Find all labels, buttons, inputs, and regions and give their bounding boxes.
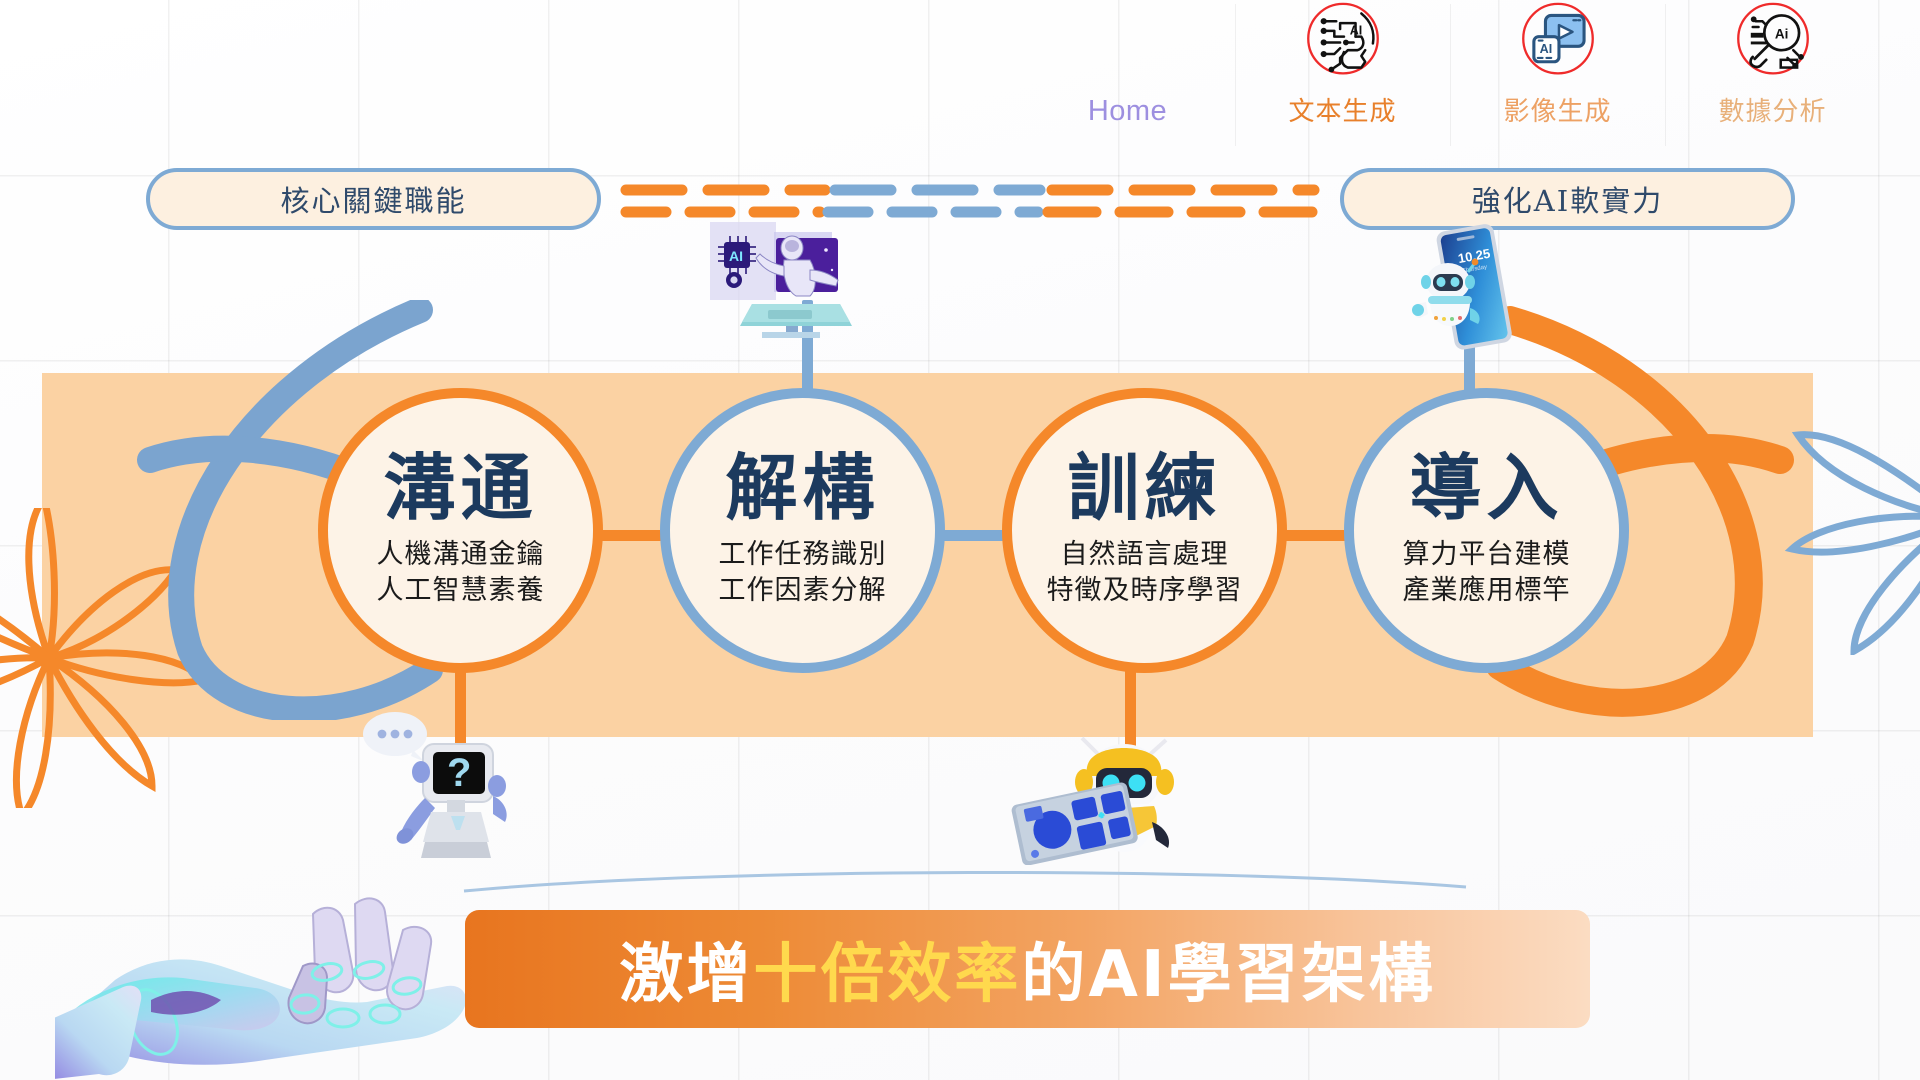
arc-divider	[460, 865, 1470, 895]
svg-text:Ai: Ai	[1774, 27, 1788, 42]
ai-head-circuit-icon: AI	[1300, 0, 1386, 83]
nav-label-image-generation: 影像生成	[1503, 91, 1611, 128]
pill-right-label: 強化AI軟實力	[1472, 178, 1663, 220]
pill-ai-soft-power[interactable]: 強化AI軟實力	[1340, 168, 1795, 230]
node-subtitle-line2: 產業應用標竿	[1403, 572, 1571, 608]
top-nav: Home	[1020, 0, 1880, 150]
infographic-canvas: Home	[0, 0, 1920, 1080]
node-communication[interactable]: 溝通 人機溝通金鑰 人工智慧素養	[318, 388, 603, 673]
nav-label-text-generation: 文本生成	[1288, 91, 1396, 128]
headline-segment-2: 十倍效率	[753, 938, 1021, 1012]
node-title: 溝通	[383, 453, 537, 526]
node-subtitle-line1: 自然語言處理	[1061, 536, 1229, 572]
svg-text:Thursday: Thursday	[1462, 264, 1488, 274]
nav-item-home[interactable]: Home	[1020, 0, 1235, 150]
node-deployment[interactable]: 導入 算力平台建模 產業應用標竿	[1344, 388, 1629, 673]
node-subtitle-line1: 算力平台建模	[1403, 536, 1571, 572]
headline-banner[interactable]: 激增十倍效率的AI學習架構	[465, 910, 1590, 1028]
node-title: 訓練	[1067, 453, 1221, 526]
svg-text:10.25: 10.25	[1457, 246, 1492, 266]
nav-item-data-analysis[interactable]: Ai 數據分析	[1665, 0, 1880, 150]
nav-item-text-generation[interactable]: AI 文本生成	[1235, 0, 1450, 150]
node-subtitle-line2: 工作因素分解	[719, 572, 887, 608]
ai-brain-magnifier-icon: Ai	[1730, 0, 1816, 83]
node-title: 解構	[725, 453, 879, 526]
node-deconstruction[interactable]: 解構 工作任務識別 工作因素分解	[660, 388, 945, 673]
pill-core-competency[interactable]: 核心關鍵職能	[146, 168, 601, 230]
nav-item-image-generation[interactable]: AI 影像生成	[1450, 0, 1665, 150]
ai-video-play-icon: AI	[1515, 0, 1601, 83]
node-subtitle-line1: 工作任務識別	[719, 536, 887, 572]
pill-left-label: 核心關鍵職能	[280, 178, 466, 220]
node-title: 導入	[1409, 453, 1563, 526]
svg-text:AI: AI	[729, 248, 743, 264]
nav-label-data-analysis: 數據分析	[1718, 91, 1826, 128]
node-subtitle-line2: 人工智慧素養	[377, 572, 545, 608]
robotic-hand-illustration	[55, 862, 475, 1080]
nav-label-home: Home	[1088, 95, 1167, 128]
node-subtitle-line1: 人機溝通金鑰	[377, 536, 545, 572]
yellow-robot-control-panel-illustration	[1010, 730, 1190, 865]
headline-segment-1: 激增	[619, 938, 753, 1012]
svg-text:AI: AI	[1349, 24, 1362, 38]
node-training[interactable]: 訓練 自然語言處理 特徵及時序學習	[1002, 388, 1287, 673]
headline-segment-3: 的AI學習架構	[1021, 938, 1435, 1012]
dashed-connector	[620, 180, 1320, 222]
headline-text: 激增十倍效率的AI學習架構	[619, 923, 1435, 1015]
robot-from-laptop-illustration: AI	[700, 218, 860, 338]
svg-text:AI: AI	[1539, 42, 1552, 56]
node-subtitle-line2: 特徵及時序學習	[1047, 572, 1243, 608]
